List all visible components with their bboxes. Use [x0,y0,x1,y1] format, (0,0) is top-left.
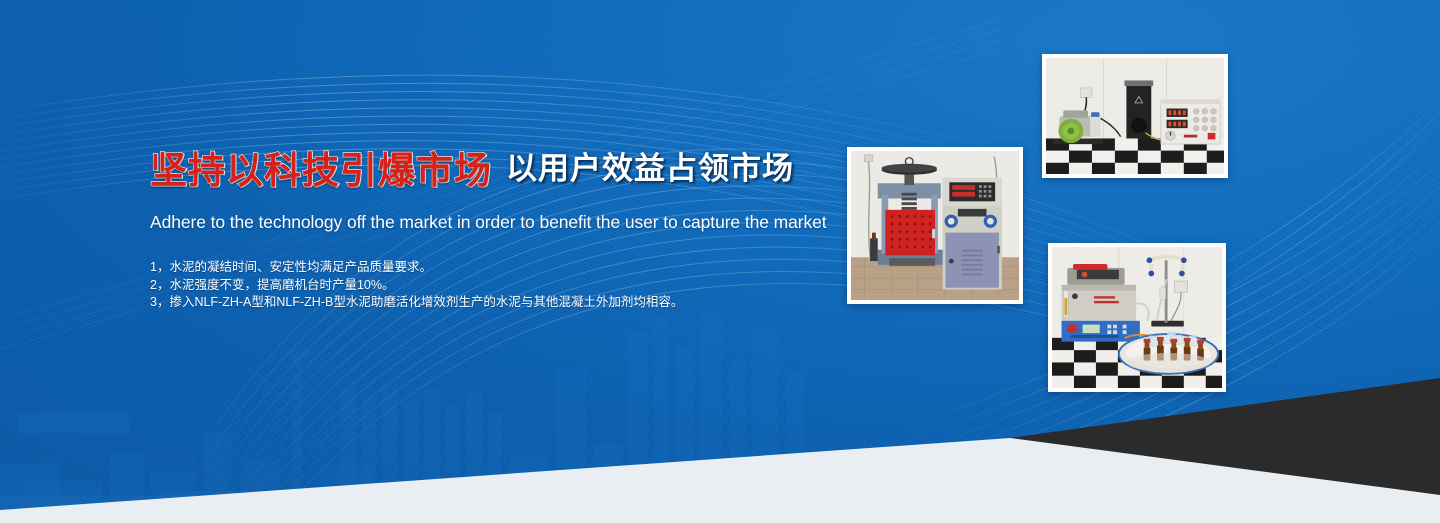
subhead-english: Adhere to the technology off the market … [150,212,850,233]
photo-compression-testing-machine[interactable] [847,147,1023,304]
feature-list: 1，水泥的凝结时间、安定性均满足产品质量要求。 2，水泥强度不变，提高磨机台时产… [150,259,850,312]
list-item: 2，水泥强度不变，提高磨机台时产量10%。 [150,277,850,295]
list-item: 1，水泥的凝结时间、安定性均满足产品质量要求。 [150,259,850,277]
photo-inner [1052,247,1222,388]
headline-primary: 坚持以科技引爆市场 [150,148,492,192]
banner-copy: 坚持以科技引爆市场以用户效益占领市场 Adhere to the technol… [150,150,850,312]
photo-vacuum-pump-controller[interactable] [1042,54,1228,178]
photo-mixer-sample-tray[interactable] [1048,243,1226,392]
list-item: 3，掺入NLF-ZH-A型和NLF-ZH-B型水泥助磨活化增效剂生产的水泥与其他… [150,294,850,312]
headline: 坚持以科技引爆市场以用户效益占领市场 [150,150,850,187]
promo-banner: 坚持以科技引爆市场以用户效益占领市场 Adhere to the technol… [0,0,1440,523]
headline-secondary: 以用户效益占领市场 [506,151,794,187]
photo-inner [1046,58,1224,174]
photo-inner [851,151,1019,300]
